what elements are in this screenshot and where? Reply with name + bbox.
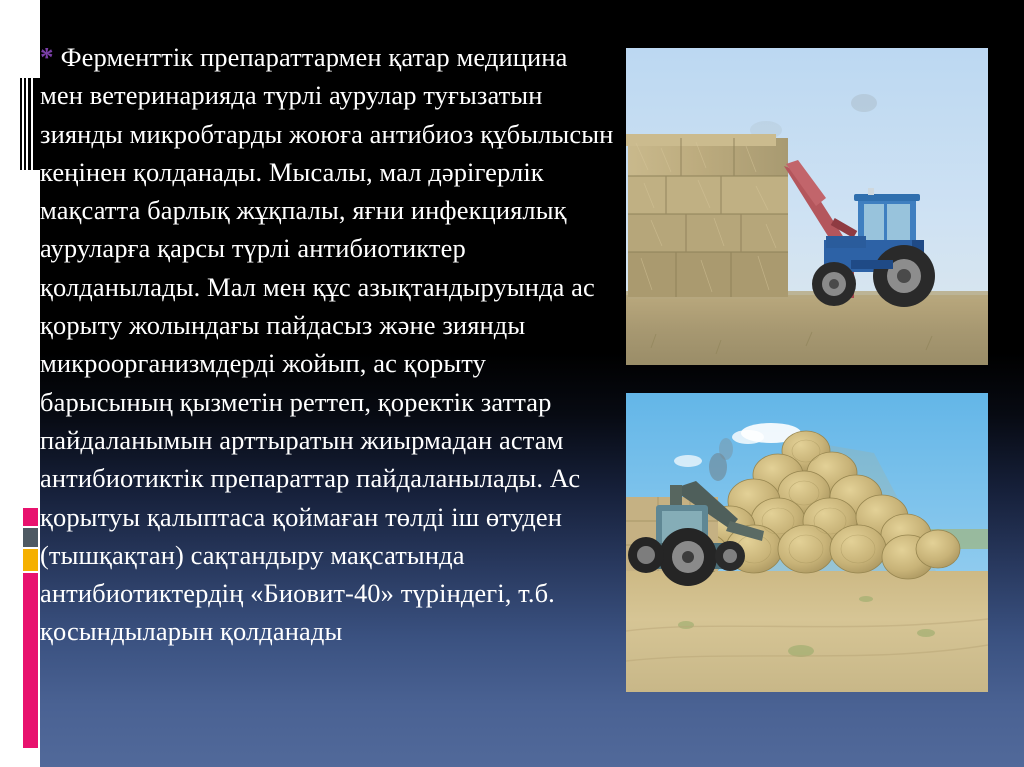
barcode-bars-icon bbox=[20, 78, 40, 170]
bullet-asterisk-icon: * bbox=[40, 42, 61, 72]
accent-segment-yellow bbox=[23, 549, 38, 571]
barcode-bar bbox=[24, 78, 26, 170]
accent-segment-pink-top bbox=[23, 508, 38, 526]
photo-tractor-stacking-hay-bales bbox=[626, 48, 988, 365]
tractor-round-bales-illustration bbox=[626, 393, 988, 692]
tractor-hay-wall-illustration bbox=[626, 48, 988, 365]
barcode-bar bbox=[28, 78, 31, 170]
slide-body-text: *Ферменттік препараттармен қатар медицин… bbox=[40, 38, 616, 651]
accent-segment-gray bbox=[23, 528, 38, 547]
barcode-bar bbox=[33, 78, 40, 170]
paragraph-text: Ферменттік препараттармен қатар медицина… bbox=[40, 42, 613, 646]
accent-segment-pink-long bbox=[23, 573, 38, 748]
barcode-bar bbox=[20, 78, 22, 170]
photo-tractor-round-hay-bales bbox=[626, 393, 988, 692]
presentation-slide: *Ферменттік препараттармен қатар медицин… bbox=[0, 0, 1024, 767]
left-decorative-rail bbox=[0, 0, 40, 767]
